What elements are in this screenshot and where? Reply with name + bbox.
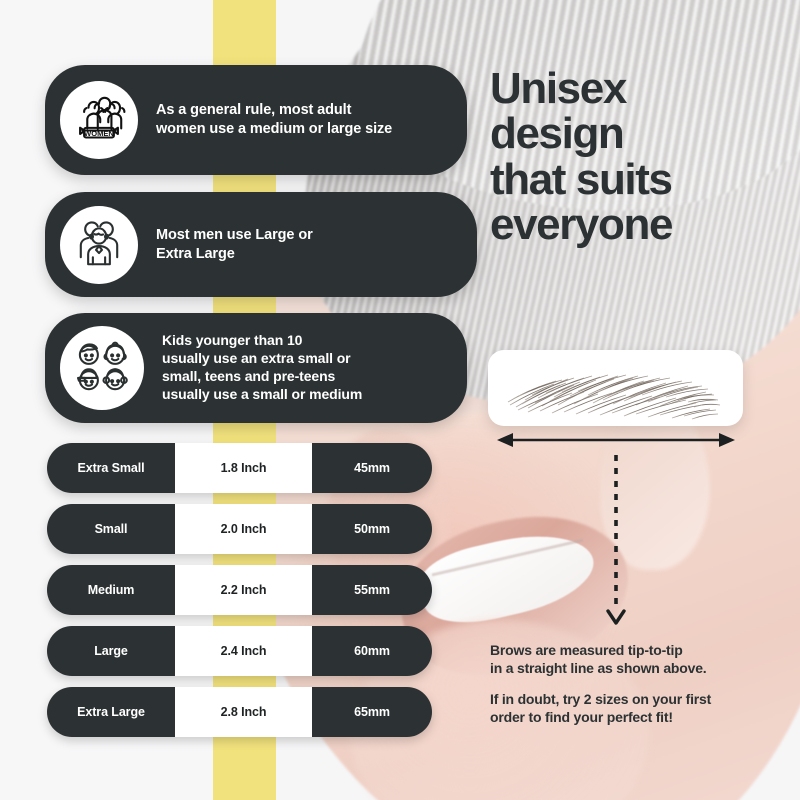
dashed-down-arrow-icon [605, 455, 627, 630]
size-inch: 1.8 Inch [175, 443, 312, 493]
eyebrow-image [488, 350, 743, 426]
infographic-canvas: WOMEN As a general rule, most adult wome… [0, 0, 800, 800]
info-card-kids: Kids younger than 10 usually use an extr… [45, 313, 467, 423]
measurement-arrow [497, 432, 735, 448]
page-title: Unisex design that suits everyone [490, 66, 672, 247]
women-banner-label: WOMEN [84, 129, 114, 138]
size-mm: 50mm [312, 504, 432, 554]
table-row: Medium 2.2 Inch 55mm [47, 565, 432, 615]
info-card-text: As a general rule, most adult women use … [156, 101, 392, 139]
table-row: Small 2.0 Inch 50mm [47, 504, 432, 554]
size-inch: 2.2 Inch [175, 565, 312, 615]
size-mm: 60mm [312, 626, 432, 676]
size-inch: 2.8 Inch [175, 687, 312, 737]
size-mm: 65mm [312, 687, 432, 737]
size-name: Large [47, 626, 175, 676]
size-name: Extra Small [47, 443, 175, 493]
size-mm: 55mm [312, 565, 432, 615]
size-name: Medium [47, 565, 175, 615]
table-row: Extra Small 1.8 Inch 45mm [47, 443, 432, 493]
size-name: Small [47, 504, 175, 554]
info-card-text: Most men use Large or Extra Large [156, 226, 313, 264]
info-card-text: Kids younger than 10 usually use an extr… [162, 332, 362, 403]
eyebrow-sample-card [488, 350, 743, 426]
size-name: Extra Large [47, 687, 175, 737]
caption-sizing-advice: If in doubt, try 2 sizes on your first o… [490, 690, 711, 727]
info-card-women: WOMEN As a general rule, most adult wome… [45, 65, 467, 175]
size-inch: 2.4 Inch [175, 626, 312, 676]
size-mm: 45mm [312, 443, 432, 493]
table-row: Extra Large 2.8 Inch 65mm [47, 687, 432, 737]
men-group-icon [60, 206, 138, 284]
size-inch: 2.0 Inch [175, 504, 312, 554]
kids-group-icon [60, 326, 144, 410]
table-row: Large 2.4 Inch 60mm [47, 626, 432, 676]
women-group-icon: WOMEN [60, 81, 138, 159]
info-card-men: Most men use Large or Extra Large [45, 192, 477, 297]
caption-measure-instruction: Brows are measured tip-to-tip in a strai… [490, 641, 706, 678]
